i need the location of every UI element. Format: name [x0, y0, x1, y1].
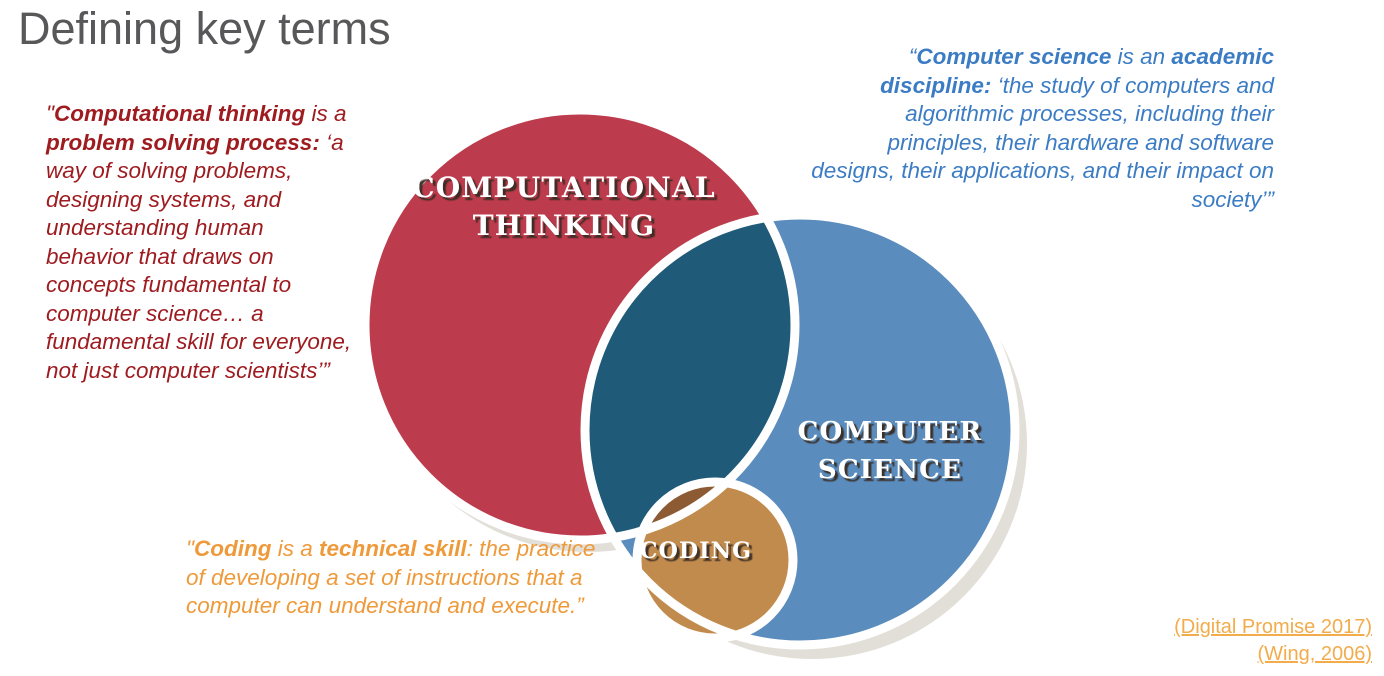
quote-ct-category: problem solving process:	[46, 130, 320, 155]
quote-coding-category: technical skill	[319, 536, 467, 561]
quote-cs-connector: is an	[1111, 44, 1171, 69]
page-title: Defining key terms	[18, 2, 391, 56]
quote-computational-thinking: "Computational thinking is a problem sol…	[46, 100, 356, 385]
computational-thinking-label-line2: THINKING	[473, 209, 656, 242]
citation-link-digital-promise[interactable]: (Digital Promise 2017)	[1174, 614, 1372, 641]
quote-coding-open: "	[186, 536, 194, 561]
quote-cs-term: Computer science	[916, 44, 1111, 69]
quote-ct-body: ‘a way of solving problems, designing sy…	[46, 130, 351, 383]
quote-computer-science: “Computer science is an academic discipl…	[806, 43, 1274, 214]
quote-ct-open: "	[46, 101, 54, 126]
quote-ct-connector: is a	[305, 101, 346, 126]
computer-science-label-line2: SCIENCE	[818, 455, 962, 485]
slide-canvas: Defining key terms	[0, 0, 1384, 676]
computational-thinking-label-line1: COMPUTATIONAL	[412, 171, 716, 204]
citations: (Digital Promise 2017) (Wing, 2006)	[1174, 614, 1372, 668]
computer-science-label-line1: COMPUTER	[798, 417, 983, 447]
quote-coding-term: Coding	[194, 536, 271, 561]
quote-ct-term: Computational thinking	[54, 101, 305, 126]
coding-label: CODING	[640, 538, 752, 564]
quote-coding-connector: is a	[271, 536, 319, 561]
citation-link-wing[interactable]: (Wing, 2006)	[1174, 641, 1372, 668]
quote-coding: "Coding is a technical skill: the practi…	[186, 535, 606, 621]
